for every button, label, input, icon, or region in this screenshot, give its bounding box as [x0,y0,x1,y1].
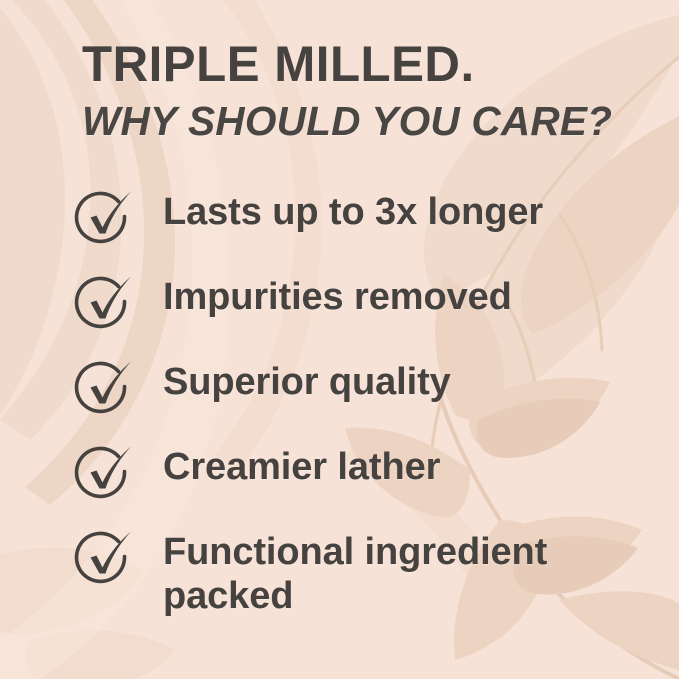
list-item: Superior quality [0,356,679,441]
header-block: TRIPLE MILLED. WHY SHOULD YOU CARE? [82,38,642,145]
list-item: Impurities removed [0,271,679,356]
list-item: Creamier lather [0,441,679,526]
list-item: Lasts up to 3x longer [0,186,679,271]
page-subtitle: WHY SHOULD YOU CARE? [82,99,636,145]
page-title: TRIPLE MILLED. [82,38,634,90]
marketing-poster: TRIPLE MILLED. WHY SHOULD YOU CARE? Last… [0,0,679,679]
benefit-label: Creamier lather [0,445,480,489]
list-item: Functional ingredient packed [0,526,679,636]
circled-checkmark-icon [74,189,134,247]
benefits-list: Lasts up to 3x longer Impurities removed… [0,186,679,636]
circled-checkmark-icon [74,359,134,417]
circled-checkmark-icon [74,529,134,587]
circled-checkmark-icon [74,444,134,502]
circled-checkmark-icon [74,274,134,332]
